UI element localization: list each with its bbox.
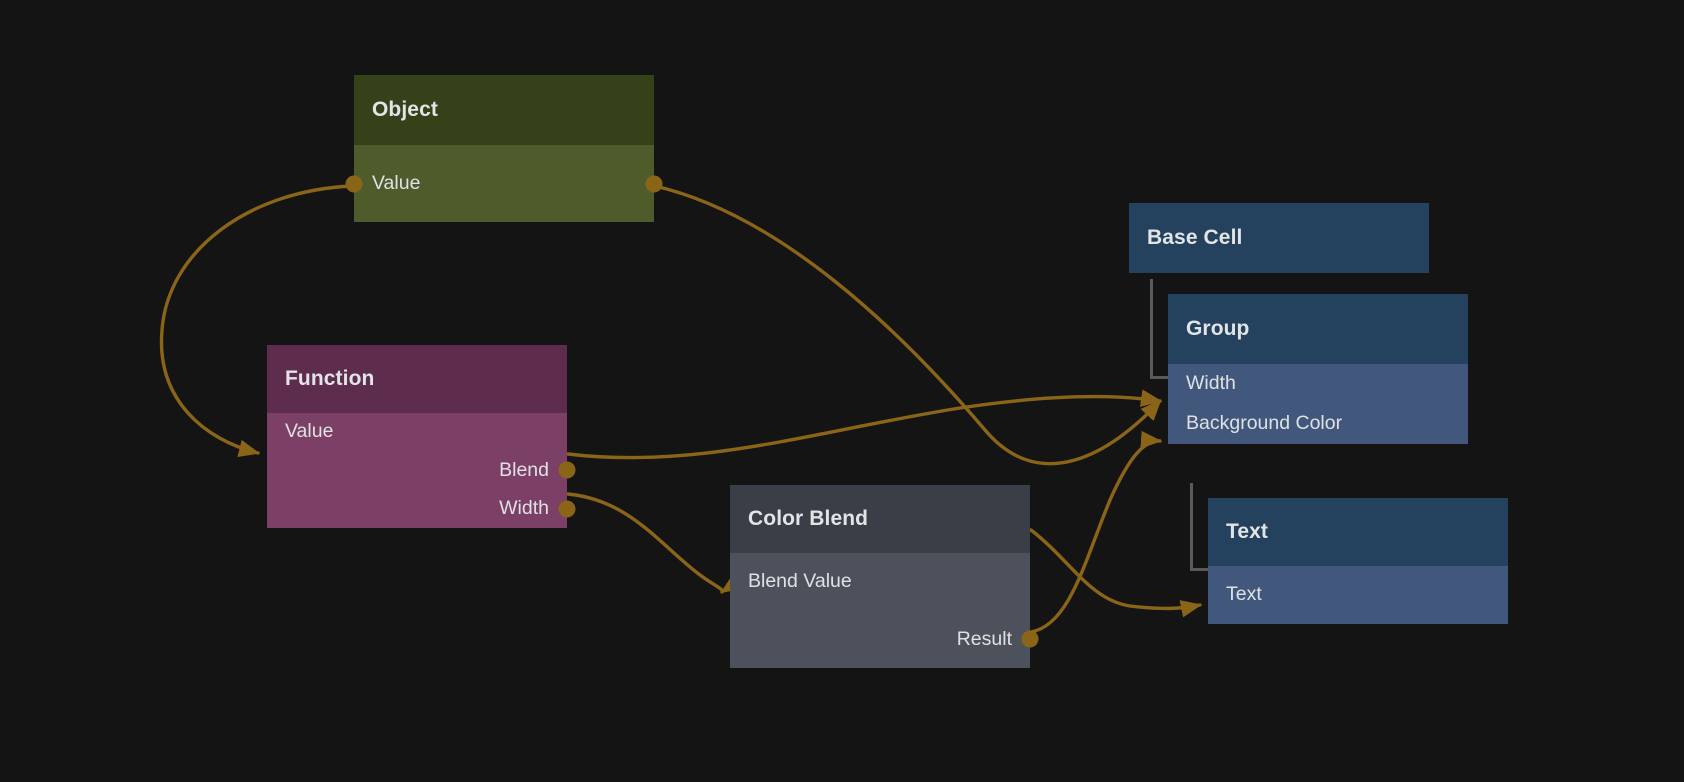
node-row-function-1[interactable]: Blend	[267, 451, 567, 489]
node-title-color-blend[interactable]: Color Blend	[730, 485, 1030, 553]
row-label: Width	[499, 499, 549, 519]
edge-color-blend-header-to-text[interactable]	[1031, 530, 1200, 608]
node-function[interactable]: FunctionValueBlendWidth	[267, 345, 567, 528]
node-title-object[interactable]: Object	[354, 75, 654, 145]
row-label: Result	[957, 630, 1012, 650]
row-label: Text	[1226, 585, 1262, 605]
edge-function-width-to-color-blend[interactable]	[568, 494, 723, 592]
row-label: Background Color	[1186, 414, 1342, 434]
row-label: Blend Value	[748, 572, 852, 592]
node-group[interactable]: GroupWidthBackground Color	[1168, 294, 1468, 444]
node-body-text: Text	[1208, 566, 1508, 624]
node-row-function-2[interactable]: Width	[267, 490, 567, 528]
node-row-text-0[interactable]: Text	[1208, 566, 1508, 624]
node-object[interactable]: ObjectValue	[354, 75, 654, 222]
node-body-color-blend: Blend ValueResult	[730, 553, 1030, 668]
edge-object-value-out-to-group-width[interactable]	[655, 186, 1160, 464]
row-label: Blend	[499, 461, 549, 481]
row-label: Width	[1186, 374, 1236, 394]
node-row-color-blend-0[interactable]: Blend Value	[730, 553, 1030, 611]
edge-function-blend-to-group-width[interactable]	[568, 397, 1160, 458]
node-title-group[interactable]: Group	[1168, 294, 1468, 364]
node-row-color-blend-1[interactable]: Result	[730, 611, 1030, 669]
node-body-group: WidthBackground Color	[1168, 364, 1468, 444]
node-color-blend[interactable]: Color BlendBlend ValueResult	[730, 485, 1030, 668]
node-row-group-1[interactable]: Background Color	[1168, 404, 1468, 444]
node-base-cell[interactable]: Base Cell	[1129, 203, 1429, 273]
socket-output-icon[interactable]	[1022, 631, 1039, 648]
socket-input-icon[interactable]	[346, 175, 363, 192]
node-body-function: ValueBlendWidth	[267, 413, 567, 528]
node-row-group-0[interactable]: Width	[1168, 364, 1468, 404]
row-label: Value	[372, 174, 420, 194]
node-graph-canvas[interactable]: ObjectValueFunctionValueBlendWidthColor …	[0, 0, 1684, 782]
node-body-object: Value	[354, 145, 654, 222]
socket-output-icon[interactable]	[559, 462, 576, 479]
node-text[interactable]: TextText	[1208, 498, 1508, 624]
edge-color-blend-result-to-group-background[interactable]	[1031, 441, 1160, 632]
node-row-object-0[interactable]: Value	[354, 145, 654, 222]
node-row-function-0[interactable]: Value	[267, 413, 567, 451]
socket-output-icon[interactable]	[646, 175, 663, 192]
node-title-function[interactable]: Function	[267, 345, 567, 413]
node-title-base-cell[interactable]: Base Cell	[1129, 203, 1429, 273]
row-label: Value	[285, 422, 333, 442]
socket-output-icon[interactable]	[559, 500, 576, 517]
node-title-text[interactable]: Text	[1208, 498, 1508, 566]
